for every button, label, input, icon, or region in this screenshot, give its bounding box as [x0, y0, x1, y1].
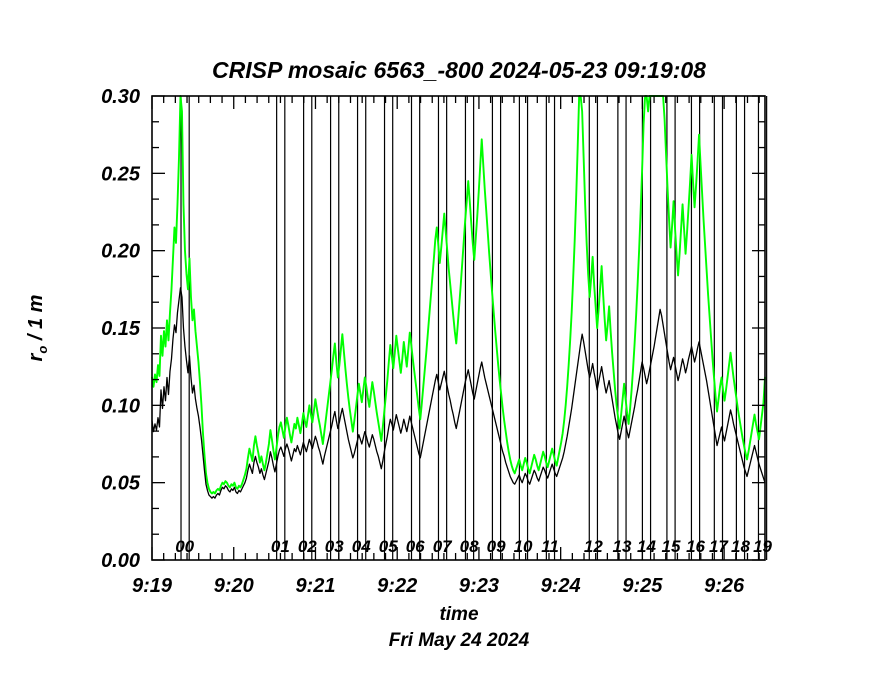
x-tick-label: 9:20 — [214, 575, 254, 597]
marker-label-12: 12 — [584, 537, 603, 556]
marker-label-19: 19 — [753, 537, 772, 556]
r0-timeseries-chart: CRISP mosaic 6563_-800 2024-05-23 09:19:… — [0, 0, 880, 680]
marker-label-01: 01 — [271, 537, 290, 556]
marker-label-11: 11 — [541, 537, 559, 556]
marker-label-00: 00 — [175, 537, 194, 556]
marker-label-08: 08 — [460, 537, 479, 556]
marker-label-18: 18 — [731, 537, 750, 556]
x-tick-label: 9:25 — [622, 575, 663, 597]
x-tick-label: 9:19 — [132, 575, 173, 597]
x-tick-label: 9:26 — [704, 575, 745, 597]
chart-title: CRISP mosaic 6563_-800 2024-05-23 09:19:… — [212, 57, 706, 83]
y-tick-label: 0.20 — [101, 241, 140, 263]
x-axis-date-label: Fri May 24 2024 — [389, 630, 530, 651]
y-tick-label: 0.00 — [101, 550, 140, 572]
marker-label-07: 07 — [433, 537, 453, 556]
marker-label-10: 10 — [514, 537, 533, 556]
marker-label-16: 16 — [686, 537, 705, 556]
y-axis-title-rest: / 1 m — [25, 295, 47, 346]
plot-container: CRISP mosaic 6563_-800 2024-05-23 09:19:… — [0, 0, 880, 680]
marker-label-14: 14 — [637, 537, 656, 556]
marker-label-15: 15 — [662, 537, 681, 556]
marker-label-17: 17 — [709, 537, 729, 556]
y-tick-label: 0.25 — [101, 163, 141, 185]
marker-label-04: 04 — [352, 537, 371, 556]
x-tick-label: 9:24 — [541, 575, 581, 597]
marker-label-13: 13 — [613, 537, 632, 556]
y-tick-label: 0.15 — [101, 318, 141, 340]
x-tick-label: 9:22 — [377, 575, 417, 597]
marker-label-09: 09 — [487, 537, 506, 556]
marker-label-06: 06 — [406, 537, 425, 556]
x-tick-label: 9:21 — [295, 575, 335, 597]
y-axis-title-subscript: o — [35, 346, 50, 354]
marker-label-02: 02 — [298, 537, 317, 556]
y-tick-label: 0.10 — [101, 395, 140, 417]
y-tick-label: 0.30 — [101, 86, 140, 108]
x-tick-label: 9:23 — [459, 575, 499, 597]
y-tick-label: 0.05 — [101, 473, 141, 495]
marker-label-03: 03 — [325, 537, 344, 556]
x-axis-title: time — [439, 604, 479, 625]
marker-label-05: 05 — [379, 537, 398, 556]
